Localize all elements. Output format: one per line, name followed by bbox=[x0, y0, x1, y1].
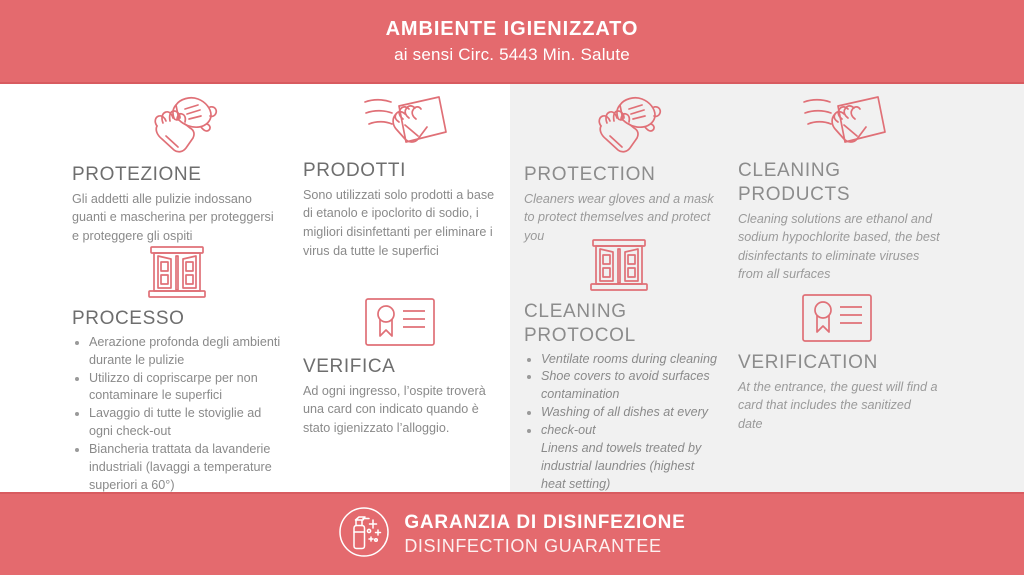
gloves-mask-icon bbox=[144, 92, 284, 156]
heading-cleaning-products: CLEANING PRODUCTS bbox=[738, 159, 946, 207]
heading-verification: VERIFICATION bbox=[738, 351, 938, 375]
list-item: Biancheria trattata da lavanderie indust… bbox=[72, 441, 284, 495]
list-item: Washing of all dishes at every bbox=[524, 404, 720, 422]
heading-protezione: PROTEZIONE bbox=[72, 163, 284, 187]
header-title: AMBIENTE IGIENIZZATO bbox=[386, 18, 639, 40]
bullets-cleaning-protocol: Ventilate rooms during cleaning Shoe cov… bbox=[524, 351, 720, 494]
block-verifica: VERIFICA Ad ogni ingresso, l’ospite trov… bbox=[303, 296, 503, 438]
block-prodotti: PRODOTTI Sono utilizzati solo prodotti a… bbox=[303, 92, 503, 260]
certificate-card-icon bbox=[800, 292, 938, 344]
desc-verification: At the entrance, the guest will find a c… bbox=[738, 378, 938, 434]
list-item: Utilizzo di copriscarpe per non contamin… bbox=[72, 370, 284, 406]
english-panel: PROTECTION Cleaners wear gloves and a ma… bbox=[510, 84, 1024, 492]
block-processo: PROCESSO Aerazione profonda degli ambien… bbox=[72, 244, 284, 495]
list-item: Ventilate rooms during cleaning bbox=[524, 351, 720, 369]
header-subtitle: ai sensi Circ. 5443 Min. Salute bbox=[394, 45, 630, 65]
heading-protection: PROTECTION bbox=[524, 163, 714, 187]
footer-subtitle: DISINFECTION GUARANTEE bbox=[404, 536, 685, 558]
certificate-card-icon bbox=[363, 296, 503, 348]
block-cleaning-products: CLEANING PRODUCTS Cleaning solutions are… bbox=[738, 92, 946, 284]
footer-title: GARANZIA DI DISINFEZIONE bbox=[404, 512, 685, 534]
block-cleaning-protocol: CLEANING PROTOCOL Ventilate rooms during… bbox=[524, 237, 720, 494]
spray-bottle-sparkle-icon bbox=[338, 506, 390, 563]
hand-wiping-cloth-icon bbox=[800, 92, 946, 152]
list-item: Lavaggio di tutte le stoviglie ad ogni c… bbox=[72, 405, 284, 441]
block-protezione: PROTEZIONE Gli addetti alle pulizie indo… bbox=[72, 92, 284, 246]
list-item: Shoe covers to avoid surfaces contaminat… bbox=[524, 368, 720, 404]
block-verification: VERIFICATION At the entrance, the guest … bbox=[738, 292, 938, 434]
heading-processo: PROCESSO bbox=[72, 307, 284, 331]
desc-protezione: Gli addetti alle pulizie indossano guant… bbox=[72, 190, 284, 246]
bullets-processo: Aerazione profonda degli ambienti durant… bbox=[72, 334, 284, 495]
italian-panel: PROTEZIONE Gli addetti alle pulizie indo… bbox=[0, 84, 510, 492]
list-item: Aerazione profonda degli ambienti durant… bbox=[72, 334, 284, 370]
heading-verifica: VERIFICA bbox=[303, 355, 503, 379]
desc-cleaning-products: Cleaning solutions are ethanol and sodiu… bbox=[738, 210, 946, 285]
list-item: check-out bbox=[524, 422, 720, 440]
block-protection: PROTECTION Cleaners wear gloves and a ma… bbox=[524, 92, 714, 246]
open-window-icon bbox=[588, 237, 720, 293]
hand-wiping-cloth-icon bbox=[361, 92, 503, 152]
header-banner: AMBIENTE IGIENIZZATO ai sensi Circ. 5443… bbox=[0, 0, 1024, 84]
infographic-page: AMBIENTE IGIENIZZATO ai sensi Circ. 5443… bbox=[0, 0, 1024, 575]
footer-banner: GARANZIA DI DISINFEZIONE DISINFECTION GU… bbox=[0, 492, 1024, 575]
list-item: Linens and towels treated by industrial … bbox=[524, 440, 720, 494]
desc-prodotti: Sono utilizzati solo prodotti a base di … bbox=[303, 186, 503, 261]
heading-cleaning-protocol: CLEANING PROTOCOL bbox=[524, 300, 720, 348]
gloves-mask-icon bbox=[588, 92, 714, 156]
heading-prodotti: PRODOTTI bbox=[303, 159, 503, 183]
desc-verifica: Ad ogni ingresso, l’ospite troverà una c… bbox=[303, 382, 503, 438]
open-window-icon bbox=[146, 244, 284, 300]
content-area: PROTEZIONE Gli addetti alle pulizie indo… bbox=[0, 84, 1024, 492]
